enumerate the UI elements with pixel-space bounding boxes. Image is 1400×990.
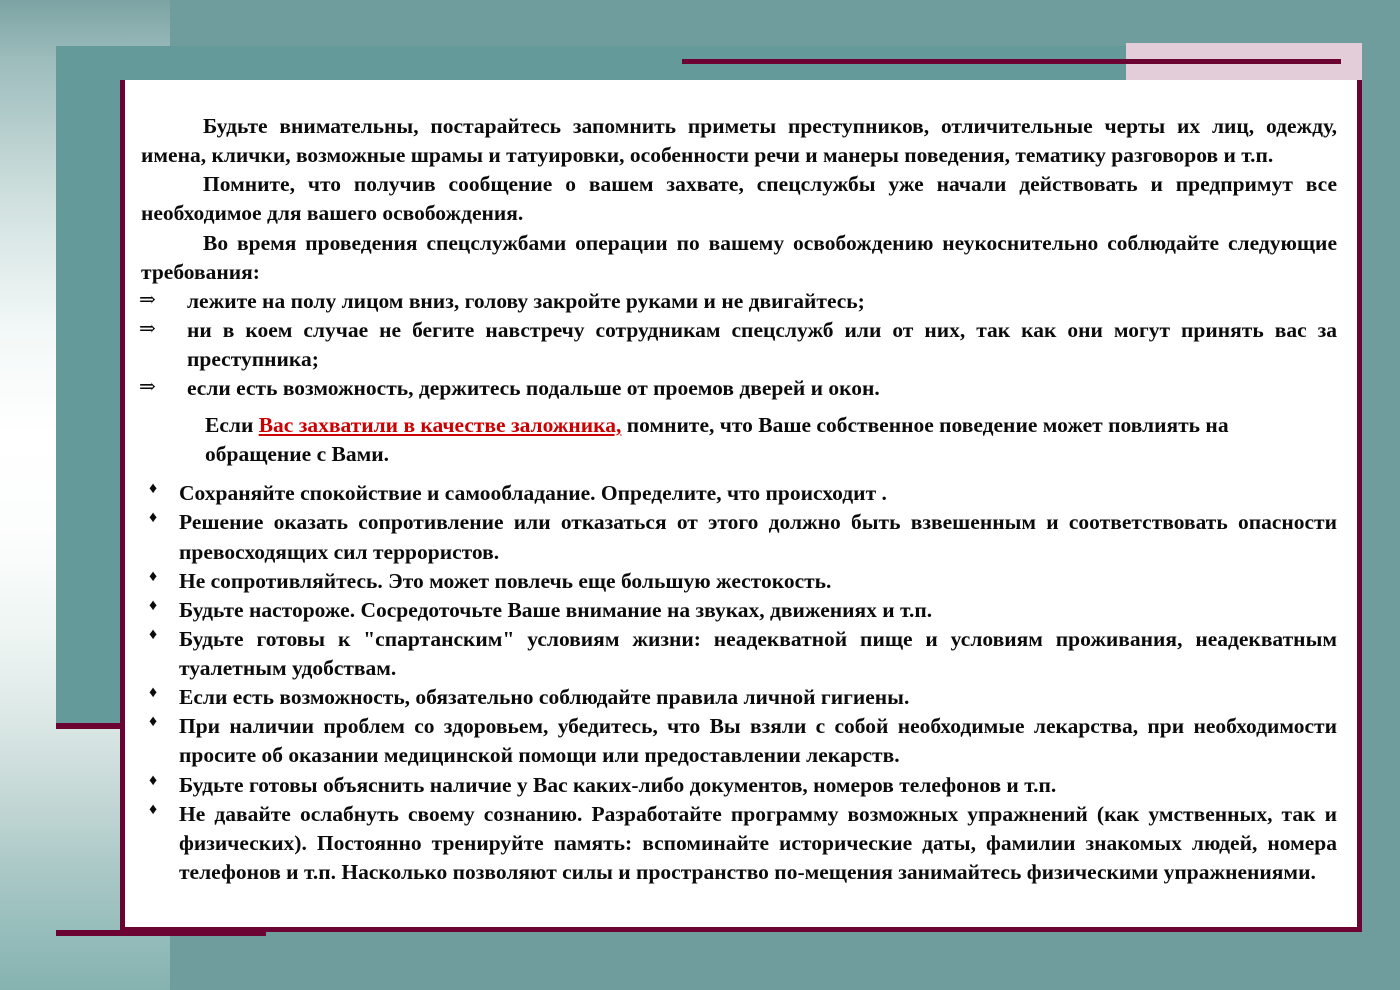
highlight-lead: Если [205, 413, 259, 437]
list-item-label: Не давайте ослабнуть своему сознанию. Ра… [179, 802, 1337, 884]
list-item: ♦ Если есть возможность, обязательно соб… [135, 683, 1341, 712]
list-item-label: ни в коем случае не бегите навстречу сот… [187, 318, 1337, 371]
list-item: ♦ Будьте готовы объяснить наличие у Вас … [135, 771, 1341, 800]
list-item-label: Если есть возможность, обязательно соблю… [179, 685, 909, 709]
list-item: ♦ Не давайте ослабнуть своему сознанию. … [135, 800, 1341, 887]
highlight-red-underlined: Вас захватили в качестве заложника, [259, 413, 622, 437]
highlight-paragraph: Если Вас захватили в качестве заложника,… [135, 411, 1341, 469]
list-item-label: При наличии проблем со здоровьем, убедит… [179, 714, 1337, 767]
diamond-icon: ♦ [149, 711, 157, 733]
list-item: ♦ При наличии проблем со здоровьем, убед… [135, 712, 1341, 770]
paragraph-1: Будьте внимательны, постарайтесь запомни… [135, 112, 1341, 170]
double-arrow-icon: ⇒ [139, 374, 156, 401]
diamond-icon: ♦ [149, 770, 157, 792]
diamond-icon: ♦ [149, 507, 157, 529]
list-item: ⇒ если есть возможность, держитесь подал… [135, 374, 1341, 403]
list-item-label: Не сопротивляйтесь. Это может повлечь ещ… [179, 569, 831, 593]
content-card-body: Будьте внимательны, постарайтесь запомни… [125, 106, 1357, 927]
decorative-top-rule [682, 59, 1341, 64]
content-card: Будьте внимательны, постарайтесь запомни… [120, 80, 1362, 932]
paragraph-2: Помните, что получив сообщение о вашем з… [135, 170, 1341, 228]
list-item-label: Решение оказать сопротивление или отказа… [179, 510, 1337, 563]
list-item: ♦ Сохраняйте спокойствие и самообладание… [135, 479, 1341, 508]
presentation-slide: Будьте внимательны, постарайтесь запомни… [0, 0, 1400, 990]
arrow-bullet-list: ⇒ лежите на полу лицом вниз, голову закр… [135, 287, 1341, 404]
paragraph-3: Во время проведения спецслужбами операци… [135, 229, 1341, 287]
diamond-icon: ♦ [149, 799, 157, 821]
list-item-label: Будьте готовы к "спартанским" условиям ж… [179, 627, 1337, 680]
list-item: ♦ Решение оказать сопротивление или отка… [135, 508, 1341, 566]
list-item: ⇒ ни в коем случае не бегите навстречу с… [135, 316, 1341, 374]
diamond-icon: ♦ [149, 682, 157, 704]
list-item-label: Будьте готовы объяснить наличие у Вас ка… [179, 773, 1056, 797]
double-arrow-icon: ⇒ [139, 316, 156, 343]
diamond-icon: ♦ [149, 566, 157, 588]
list-item-label: лежите на полу лицом вниз, голову закрой… [187, 289, 865, 313]
list-item-label: если есть возможность, держитесь подальш… [187, 376, 880, 400]
list-item: ♦ Не сопротивляйтесь. Это может повлечь … [135, 567, 1341, 596]
diamond-icon: ♦ [149, 624, 157, 646]
double-arrow-icon: ⇒ [139, 287, 156, 314]
list-item: ♦ Будьте готовы к "спартанским" условиям… [135, 625, 1341, 683]
list-item-label: Сохраняйте спокойствие и самообладание. … [179, 481, 887, 505]
diamond-bullet-list: ♦ Сохраняйте спокойствие и самообладание… [135, 479, 1341, 887]
diamond-icon: ♦ [149, 595, 157, 617]
list-item: ⇒ лежите на полу лицом вниз, голову закр… [135, 287, 1341, 316]
diamond-icon: ♦ [149, 478, 157, 500]
list-item-label: Будьте настороже. Сосредоточьте Ваше вни… [179, 598, 932, 622]
list-item: ♦ Будьте настороже. Сосредоточьте Ваше в… [135, 596, 1341, 625]
